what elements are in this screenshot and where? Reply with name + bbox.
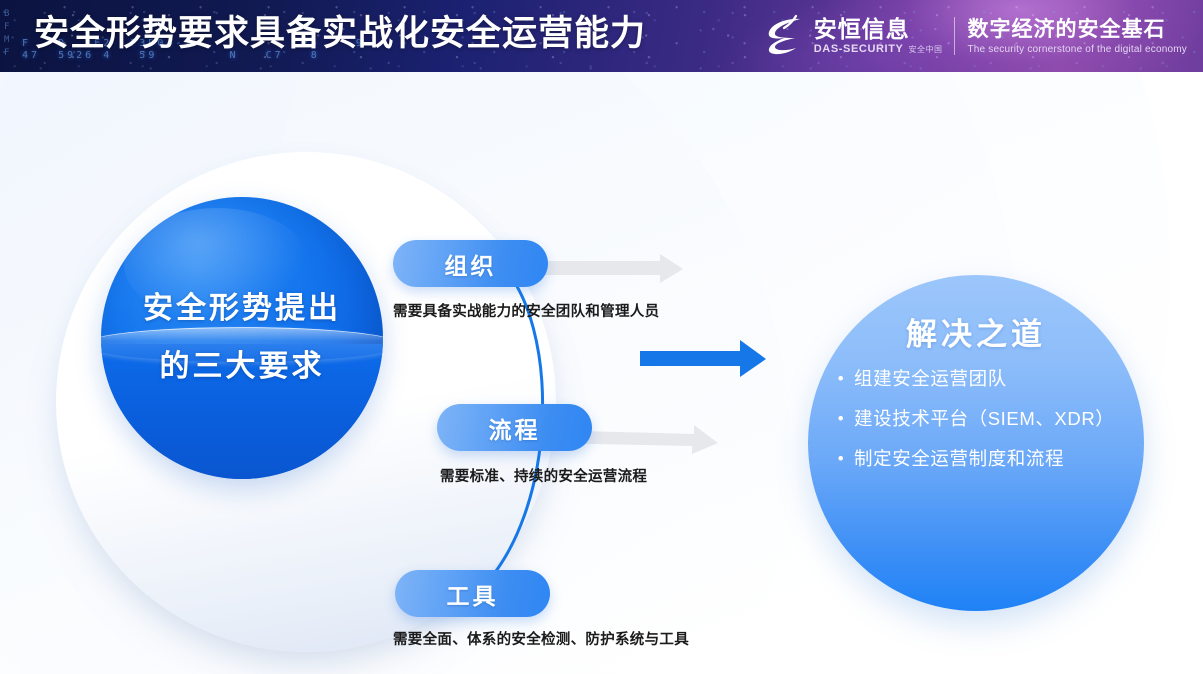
requirement-caption-organization: 需要具备实战能力的安全团队和管理人员 bbox=[393, 300, 659, 321]
brand-logo: 安恒信息 DAS-SECURITY 安全中国 数字经济的安全基石 The sec… bbox=[762, 10, 1187, 62]
bullet-icon: • bbox=[828, 407, 854, 431]
solution-title: 解决之道 bbox=[808, 309, 1144, 354]
solution-bullet-label: 组建安全运营团队 bbox=[854, 367, 1007, 391]
das-security-swoosh-logo-icon bbox=[762, 14, 808, 58]
brand-company-sub: DAS-SECURITY 安全中国 bbox=[814, 43, 943, 55]
requirements-sphere: 安全形势提出 的三大要求 bbox=[101, 197, 383, 479]
slide-body: 安全形势提出 的三大要求 组织 需要具备实战能力的安全团队和管理人员 流程 需要… bbox=[0, 72, 1203, 674]
bullet-icon: • bbox=[828, 447, 854, 471]
brand-slogan: 数字经济的安全基石 The security cornerstone of th… bbox=[967, 18, 1187, 55]
solution-bullet-label: 制定安全运营制度和流程 bbox=[854, 447, 1064, 471]
bullet-icon: • bbox=[828, 367, 854, 391]
list-item: • 制定安全运营制度和流程 bbox=[828, 447, 1130, 471]
solution-bullet-label: 建设技术平台（SIEM、XDR） bbox=[854, 407, 1114, 431]
solution-circle: 解决之道 • 组建安全运营团队 • 建设技术平台（SIEM、XDR） • 制定安… bbox=[808, 275, 1144, 611]
brand-slogan-cn: 数字经济的安全基石 bbox=[967, 18, 1187, 42]
sphere-label: 安全形势提出 的三大要求 bbox=[101, 197, 383, 479]
requirement-pill-organization[interactable]: 组织 bbox=[393, 240, 548, 287]
sphere-label-line2: 的三大要求 bbox=[160, 341, 325, 385]
list-item: • 建设技术平台（SIEM、XDR） bbox=[828, 407, 1130, 431]
list-item: • 组建安全运营团队 bbox=[828, 367, 1130, 391]
requirement-caption-tools: 需要全面、体系的安全检测、防护系统与工具 bbox=[393, 628, 689, 649]
brand-company-cn: 安恒信息 bbox=[814, 17, 943, 42]
slide-root: B F M F F D 3E2 F3D04-2 P5 9 47 5926 4 5… bbox=[0, 0, 1203, 674]
requirement-pill-tools[interactable]: 工具 bbox=[395, 570, 550, 617]
requirement-caption-process: 需要标准、持续的安全运营流程 bbox=[440, 465, 647, 486]
solution-bullet-list: • 组建安全运营团队 • 建设技术平台（SIEM、XDR） • 制定安全运营制度… bbox=[828, 367, 1130, 471]
requirement-pill-process[interactable]: 流程 bbox=[437, 404, 592, 451]
sphere-label-line1: 安全形势提出 bbox=[143, 283, 341, 327]
brand-company-en-cn: 安全中国 bbox=[908, 44, 942, 55]
brand-names: 安恒信息 DAS-SECURITY 安全中国 bbox=[814, 17, 943, 55]
brand-company-en: DAS-SECURITY bbox=[814, 43, 904, 55]
brand-slogan-en: The security cornerstone of the digital … bbox=[967, 44, 1187, 55]
logo-divider bbox=[954, 17, 955, 55]
slide-header: B F M F F D 3E2 F3D04-2 P5 9 47 5926 4 5… bbox=[0, 0, 1203, 72]
page-title: 安全形势要求具备实战化安全运营能力 bbox=[34, 8, 646, 60]
